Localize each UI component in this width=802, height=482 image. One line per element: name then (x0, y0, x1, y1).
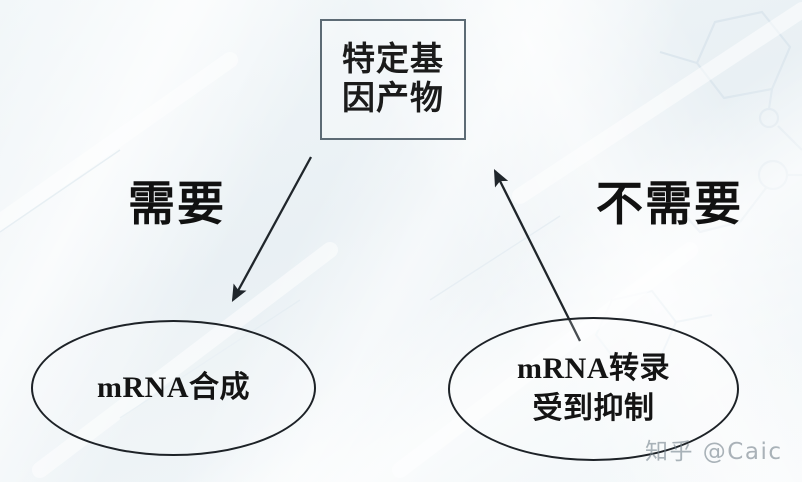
arrow-from-mrna-inhibited (495, 171, 580, 341)
arrow-to-mrna-synthesis (233, 157, 311, 300)
diagram-canvas: 特定基 因产物 需要 不需要 mRNA合成 mRNA转录 受到抑制 知乎 @Ca… (0, 0, 802, 482)
outcome-ellipse-mrna-synthesis: mRNA合成 (31, 320, 316, 456)
outcome-left-line-1: mRNA合成 (97, 368, 250, 408)
gene-product-line-1: 特定基 (342, 41, 444, 80)
gene-product-box: 特定基 因产物 (320, 19, 466, 140)
outcome-right-line-2: 受到抑制 (533, 389, 655, 429)
condition-label-not-need: 不需要 (596, 165, 743, 234)
gene-product-line-2: 因产物 (342, 80, 444, 119)
outcome-right-line-1: mRNA转录 (517, 349, 670, 389)
condition-label-need: 需要 (128, 165, 226, 234)
watermark: 知乎 @Caic (645, 432, 783, 466)
